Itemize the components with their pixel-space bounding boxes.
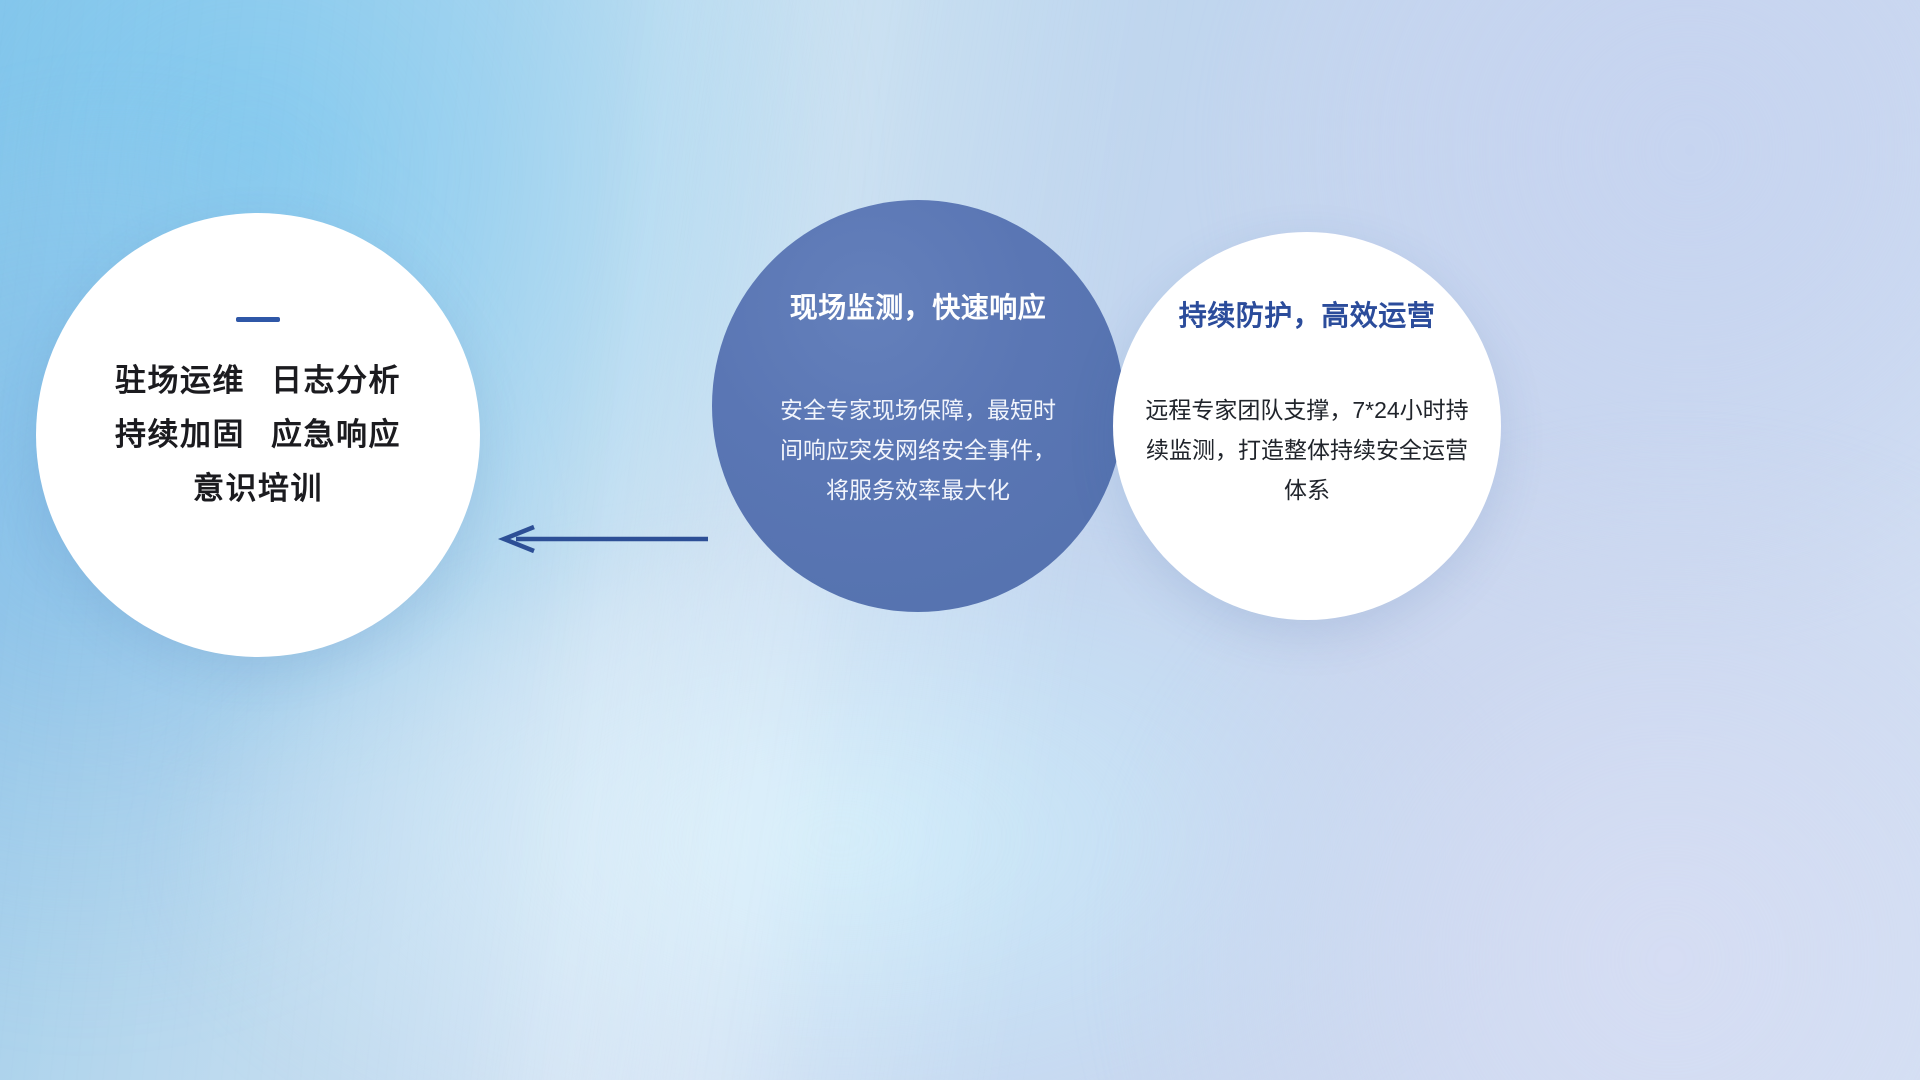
circle-body-text: 远程专家团队支撑，7*24小时持续监测，打造整体持续安全运营体系 [1135, 390, 1479, 510]
capability-label: 意识培训 [193, 471, 323, 506]
arrow-left-icon [494, 524, 708, 554]
capability-label: 应急响应 [271, 417, 401, 452]
capability-label: 日志分析 [271, 363, 401, 398]
list-item: 驻场运维日志分析 [115, 364, 401, 398]
list-item: 持续加固应急响应 [115, 418, 401, 452]
continuous-protection-circle: 持续防护，高效运营 远程专家团队支撑，7*24小时持续监测，打造整体持续安全运营… [1113, 232, 1501, 620]
circle-title: 持续防护，高效运营 [1179, 294, 1436, 334]
circle-body-text: 安全专家现场保障，最短时间响应突发网络安全事件，将服务效率最大化 [775, 390, 1061, 510]
dash-divider-icon [236, 317, 280, 322]
onsite-monitoring-circle: 现场监测，快速响应 安全专家现场保障，最短时间响应突发网络安全事件，将服务效率最… [712, 200, 1124, 612]
circle-title: 现场监测，快速响应 [790, 286, 1047, 326]
slide-canvas: 驻场运维日志分析 持续加固应急响应 意识培训 现场监测，快速响应 安全专家现场保… [0, 0, 1920, 1080]
capability-circle: 驻场运维日志分析 持续加固应急响应 意识培训 [36, 213, 480, 657]
list-item: 意识培训 [193, 472, 323, 506]
capability-label: 持续加固 [115, 417, 245, 452]
capability-list: 驻场运维日志分析 持续加固应急响应 意识培训 [115, 364, 401, 506]
flow-arrow [494, 524, 708, 554]
capability-label: 驻场运维 [115, 363, 245, 398]
